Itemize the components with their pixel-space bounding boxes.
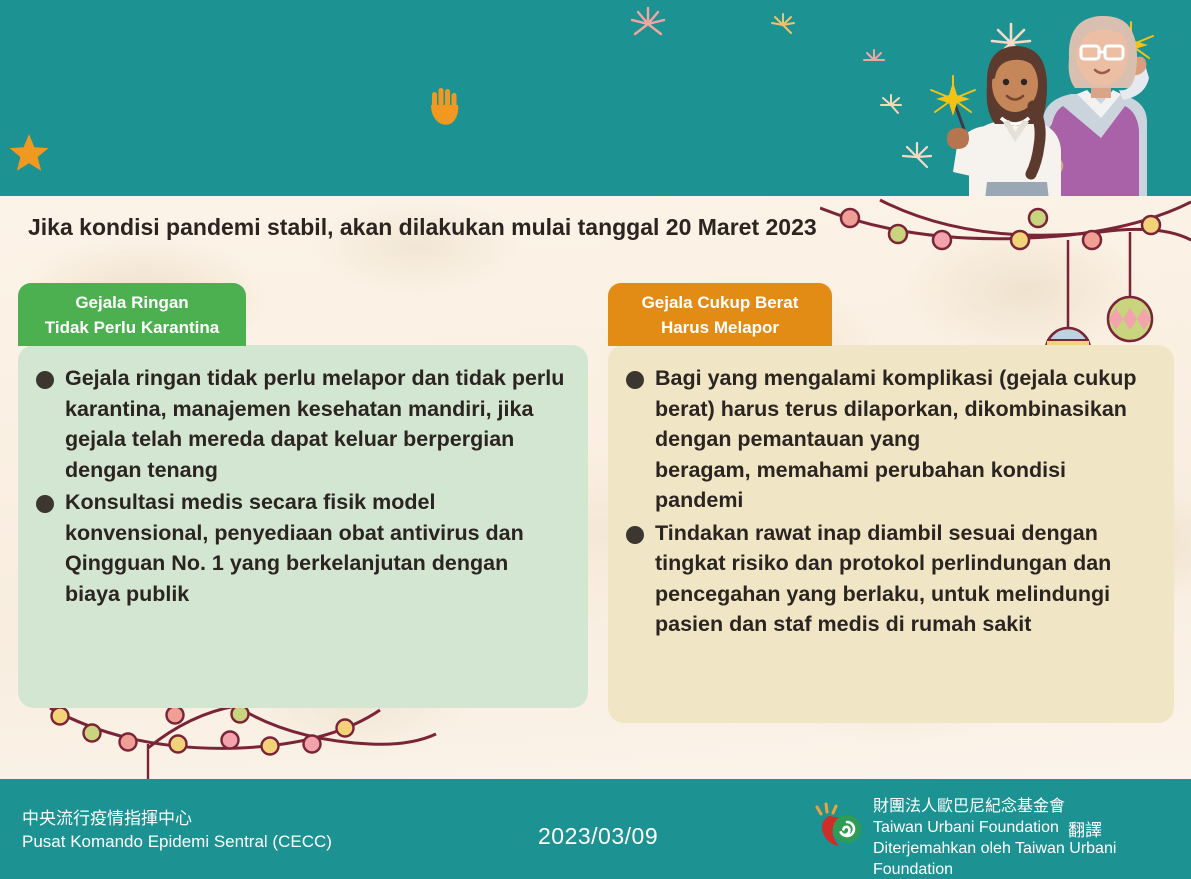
badge-mild-line1: Gejala Ringan — [34, 290, 230, 315]
list-item: Tindakan rawat inap diambil sesuai denga… — [626, 518, 1152, 640]
badge-severe-line2: Harus Melapor — [624, 315, 816, 340]
agency-name-id: Pusat Komando Epidemi Sentral (CECC) — [22, 830, 332, 853]
publish-date: 2023/03/09 — [538, 823, 658, 850]
badge-mild-line2: Tidak Perlu Karantina — [34, 315, 230, 340]
star-icon — [8, 132, 50, 174]
bullet-dot-icon — [626, 526, 644, 544]
two-people-with-sparklers-illustration — [891, 0, 1191, 196]
urbani-foundation-logo-icon — [815, 802, 865, 848]
badge-severe-line1: Gejala Cukup Berat — [624, 290, 816, 315]
list-item: Konsultasi medis secara fisik model konv… — [36, 487, 566, 609]
bullet-text: Bagi yang mengalami komplikasi (gejala c… — [655, 363, 1152, 516]
translator-name-zh: 財團法人歐巴尼紀念基金會 — [873, 796, 1191, 817]
card-severe-symptoms: Bagi yang mengalami komplikasi (gejala c… — [608, 345, 1174, 723]
raised-hand-icon — [428, 86, 462, 126]
translator-text: 財團法人歐巴尼紀念基金會 Taiwan Urbani Foundation Di… — [873, 796, 1191, 879]
translator-credit-id: Diterjemahkan oleh Taiwan Urbani Foundat… — [873, 838, 1191, 879]
card-mild-symptoms: Gejala ringan tidak perlu melapor dan ti… — [18, 345, 588, 708]
infographic-poster: Jika kondisi pandemi stabil, akan dilaku… — [0, 0, 1191, 879]
badge-severe-symptoms: Gejala Cukup Berat Harus Melapor — [608, 283, 832, 346]
bullet-text: Gejala ringan tidak perlu melapor dan ti… — [65, 363, 566, 485]
translator-block: 財團法人歐巴尼紀念基金會 Taiwan Urbani Foundation Di… — [815, 796, 1191, 879]
translator-name-en: Taiwan Urbani Foundation — [873, 817, 1191, 838]
header-banner — [0, 0, 1191, 196]
bullet-list-severe: Bagi yang mengalami komplikasi (gejala c… — [626, 363, 1152, 640]
bullet-list-mild: Gejala ringan tidak perlu melapor dan ti… — [36, 363, 566, 609]
agency-name-zh: 中央流行疫情指揮中心 — [22, 807, 332, 830]
bullet-dot-icon — [36, 371, 54, 389]
sparkle-burst-icon — [770, 12, 796, 38]
sparkle-burst-icon — [628, 4, 668, 44]
list-item: Gejala ringan tidak perlu melapor dan ti… — [36, 363, 566, 485]
footer-bar: 中央流行疫情指揮中心 Pusat Komando Epidemi Sentral… — [0, 779, 1191, 879]
list-item: Bagi yang mengalami komplikasi (gejala c… — [626, 363, 1152, 516]
translator-label-zh: 翻譯 — [1068, 816, 1102, 841]
agency-block: 中央流行疫情指揮中心 Pusat Komando Epidemi Sentral… — [22, 807, 332, 853]
badge-mild-symptoms: Gejala Ringan Tidak Perlu Karantina — [18, 283, 246, 346]
bullet-text: Konsultasi medis secara fisik model konv… — [65, 487, 566, 609]
bullet-text: Tindakan rawat inap diambil sesuai denga… — [655, 518, 1152, 640]
sparkle-burst-icon — [862, 48, 886, 72]
bullet-dot-icon — [626, 371, 644, 389]
page-subtitle: Jika kondisi pandemi stabil, akan dilaku… — [28, 212, 848, 243]
bullet-dot-icon — [36, 495, 54, 513]
zigzag-lantern-icon — [1108, 297, 1152, 341]
